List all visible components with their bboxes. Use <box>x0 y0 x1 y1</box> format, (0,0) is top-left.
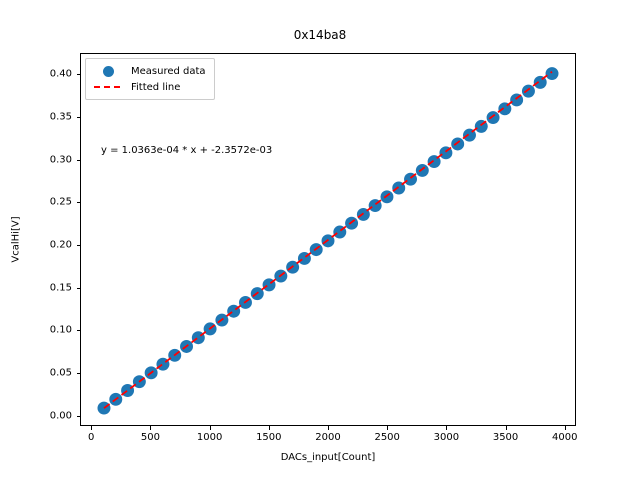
legend-label: Fitted line <box>131 82 180 93</box>
y-axis-tick-mark <box>77 288 81 289</box>
y-axis-tick-label: 0.15 <box>20 282 72 293</box>
x-axis-tick-mark <box>210 426 211 430</box>
x-axis-tick-mark <box>269 426 270 430</box>
dashed-line-icon <box>92 83 124 91</box>
x-axis-tick-mark <box>506 426 507 430</box>
y-axis-tick-label: 0.20 <box>20 240 72 251</box>
y-axis-tick-mark <box>77 117 81 118</box>
x-axis-tick-label: 3500 <box>493 432 518 443</box>
x-axis-tick-mark <box>446 426 447 430</box>
legend-marker-swatch <box>103 66 114 77</box>
x-axis-tick-mark <box>387 426 388 430</box>
x-axis-tick-label: 3000 <box>434 432 459 443</box>
figure-canvas: 0x14ba8 VcalHi[V] Measured data Fitted l… <box>0 0 640 480</box>
x-axis-tick-label: 2500 <box>374 432 399 443</box>
data-point <box>546 67 559 80</box>
data-point <box>380 190 393 203</box>
data-point <box>487 111 500 124</box>
page-title: 0x14ba8 <box>0 28 640 42</box>
legend-dash-svg <box>93 83 123 91</box>
x-axis-tick-mark <box>328 426 329 430</box>
plot-area <box>80 53 576 426</box>
legend-item-fitted-line[interactable]: Fitted line <box>92 79 206 95</box>
y-axis-tick-mark <box>77 416 81 417</box>
y-axis-tick-mark <box>77 160 81 161</box>
y-axis-tick-mark <box>77 373 81 374</box>
y-axis-tick-label: 0.30 <box>20 154 72 165</box>
x-axis-tick-mark <box>150 426 151 430</box>
y-axis-tick-mark <box>77 202 81 203</box>
data-point <box>416 164 429 177</box>
data-point <box>522 85 535 98</box>
legend-label: Measured data <box>131 66 206 77</box>
y-axis-tick-label: 0.05 <box>20 368 72 379</box>
y-axis-tick-label: 0.25 <box>20 197 72 208</box>
plot-svg <box>81 54 575 425</box>
y-axis-tick-label: 0.00 <box>20 410 72 421</box>
fit-equation-annotation: y = 1.0363e-04 * x + -2.3572e-03 <box>101 145 272 156</box>
x-axis-tick-label: 500 <box>141 432 160 443</box>
circle-marker-icon <box>92 66 124 77</box>
x-axis-tick-label: 1500 <box>256 432 281 443</box>
y-axis-tick-mark <box>77 330 81 331</box>
x-axis-tick-label: 4000 <box>552 432 577 443</box>
x-axis-label: DACs_input[Count] <box>80 452 576 463</box>
x-axis-tick-label: 2000 <box>315 432 340 443</box>
y-axis-tick-label: 0.40 <box>20 69 72 80</box>
y-axis-tick-mark <box>77 74 81 75</box>
data-point <box>451 138 464 151</box>
y-axis-tick-label: 0.10 <box>20 325 72 336</box>
y-axis-tick-mark <box>77 245 81 246</box>
y-axis-tick-label: 0.35 <box>20 111 72 122</box>
legend: Measured data Fitted line <box>85 58 215 100</box>
x-axis-tick-label: 0 <box>88 432 94 443</box>
x-axis-tick-mark <box>565 426 566 430</box>
x-axis-tick-mark <box>91 426 92 430</box>
x-axis-tick-label: 1000 <box>197 432 222 443</box>
legend-item-measured-data[interactable]: Measured data <box>92 63 206 79</box>
